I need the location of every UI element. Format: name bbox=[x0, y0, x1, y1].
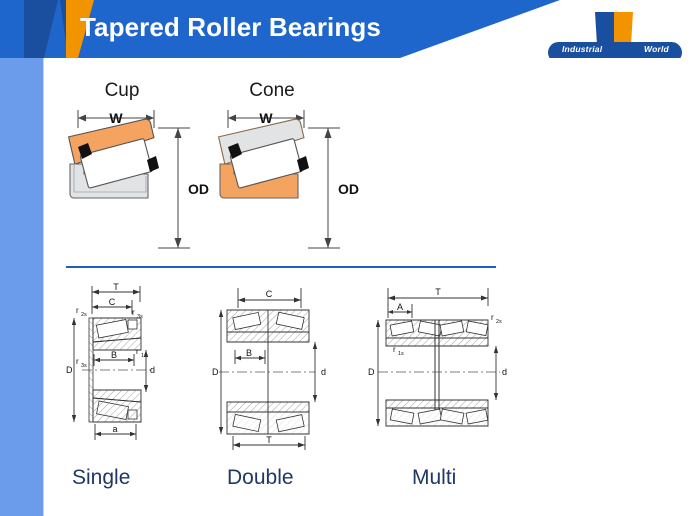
radius-label-r1s: r bbox=[136, 347, 139, 356]
dim-label-d-bore: d bbox=[150, 365, 155, 375]
dim-label-d-outer: D bbox=[212, 367, 219, 377]
radius-label-r3s: r bbox=[132, 308, 135, 317]
figure-multi-drawing: T A r 2s r 1s bbox=[360, 280, 520, 460]
logo-text-world: World bbox=[644, 44, 669, 54]
dim-label-w: W bbox=[259, 110, 273, 126]
dim-label-w: W bbox=[109, 110, 123, 126]
figure-double-caption: Double bbox=[205, 466, 355, 490]
slide-root: Tapered Roller Bearings Industrial World… bbox=[0, 0, 700, 516]
logo-text-industrial: Industrial bbox=[562, 44, 602, 54]
radius-label-r1s: r bbox=[393, 345, 396, 354]
figure-cone-drawing: W OD bbox=[212, 102, 372, 272]
dim-label-a: a bbox=[112, 424, 117, 434]
radius-sub-r2s: 2s bbox=[496, 319, 502, 325]
left-sidebar bbox=[0, 58, 43, 516]
dim-label-d-outer: D bbox=[368, 367, 375, 377]
radius-label-r3s-lower: r bbox=[76, 357, 79, 366]
dim-label-d-outer: D bbox=[66, 365, 73, 375]
figure-cone-caption: Cone bbox=[212, 80, 332, 102]
dim-label-od: OD bbox=[338, 181, 359, 197]
figure-multi-caption: Multi bbox=[360, 466, 510, 490]
dim-label-d-bore: d bbox=[502, 367, 507, 377]
figure-double-drawing: C B bbox=[205, 280, 350, 460]
dim-label-t: T bbox=[266, 435, 272, 445]
dim-label-d-bore: d bbox=[321, 367, 326, 377]
figure-single-caption: Single bbox=[62, 466, 212, 490]
radius-sub-r3s-lower: 3s bbox=[81, 363, 87, 369]
radius-sub-r2s: 2s bbox=[81, 312, 87, 318]
dim-label-c: C bbox=[109, 297, 116, 307]
radius-sub-r1s: 1s bbox=[398, 351, 404, 357]
dim-label-t: T bbox=[435, 287, 441, 297]
dim-label-c: C bbox=[266, 289, 273, 299]
radius-label-r2s: r bbox=[76, 306, 79, 315]
radius-label-r2s: r bbox=[491, 313, 494, 322]
figure-cup-drawing: W OD bbox=[62, 102, 222, 272]
dim-label-b: B bbox=[111, 350, 117, 360]
figure-single-drawing: T C r 2s r 3s bbox=[62, 280, 212, 460]
figure-cup-caption: Cup bbox=[62, 80, 182, 102]
dim-label-od: OD bbox=[188, 181, 209, 197]
dim-label-a: A bbox=[397, 302, 403, 312]
dim-label-b: B bbox=[246, 348, 252, 358]
page-title: Tapered Roller Bearings bbox=[80, 12, 381, 43]
dim-label-t: T bbox=[113, 282, 119, 292]
